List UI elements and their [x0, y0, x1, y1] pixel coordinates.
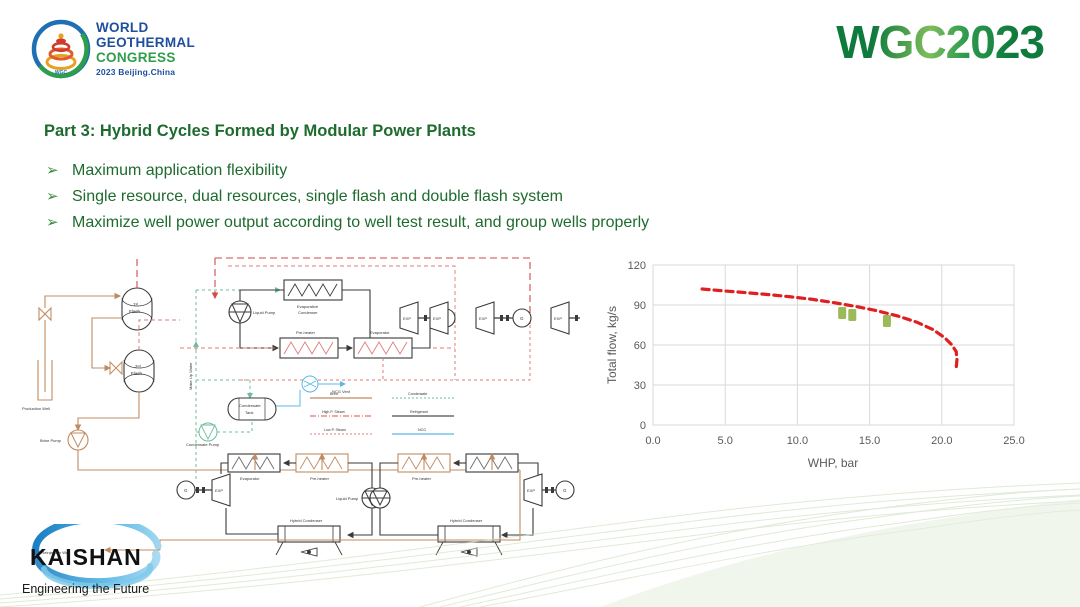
bottom-module-2: Pre-heater EXP G Hybrid Condenser — [370, 454, 574, 556]
bullet-list: ➢ Maximum application flexibility ➢ Sing… — [46, 160, 946, 238]
label-flash2b: Flash — [131, 371, 143, 376]
xtick-25: 25.0 — [1003, 435, 1024, 447]
bullet-text: Maximum application flexibility — [72, 160, 287, 182]
legend-label-ncg: NCG — [418, 428, 426, 432]
page-title: Part 3: Hybrid Cycles Formed by Modular … — [44, 122, 476, 141]
wgc-congress-logo: WGC WORLD GEOTHERMAL CONGRESS 2023 Beiji… — [30, 14, 205, 84]
wgc-emblem-badge-text: WGC — [55, 70, 68, 76]
kaishan-wordmark: KAISHAN — [30, 544, 142, 571]
label-exp-3: EXP — [479, 316, 487, 321]
label-make-up-water: Make Up Water — [188, 362, 193, 390]
label-flash1b: Flash — [129, 309, 141, 314]
wgc-emblem-icon: WGC — [30, 18, 92, 80]
well-deliverability-chart-svg: 120 90 60 30 0 0.0 5.0 10.0 15.0 20.0 25… — [596, 252, 1036, 474]
label-liquid-pump-top: Liquid Pump — [253, 310, 276, 315]
wgc-logo-line-4: 2023 Beijing.China — [96, 67, 195, 77]
label-flash2: 2ⁿᵈ — [135, 364, 141, 369]
bullet-text: Single resource, dual resources, single … — [72, 186, 563, 208]
label-pre-heater-m1: Pre-heater — [310, 476, 330, 481]
legend-label-brine: Brine — [330, 392, 338, 396]
chart-y-axis-label: Total flow, kg/s — [605, 306, 619, 384]
label-hybrid-condenser-m1: Hybrid Condenser — [290, 518, 323, 523]
label-hybrid-condenser-m2: Hybrid Condenser — [450, 518, 483, 523]
chart-x-axis-label: WHP, bar — [808, 456, 858, 470]
ytick-60: 60 — [634, 340, 646, 352]
label-flash1: 1ˢᵗ — [133, 302, 138, 307]
chart-marker — [883, 315, 891, 327]
label-exp-1: EXP — [403, 316, 411, 321]
list-item: ➢ Maximize well power output according t… — [46, 212, 946, 234]
kaishan-tagline: Engineering the Future — [22, 582, 149, 596]
label-exp-4: EXP — [554, 316, 562, 321]
wgc-logo-line-2: GEOTHERMAL — [96, 35, 195, 50]
bullet-text: Maximize well power output according to … — [72, 212, 649, 234]
label-production-well: Production Well — [22, 406, 50, 411]
diagram-legend: Brine High P. Steam Low P. Steam Condens… — [310, 392, 454, 434]
chart-marker — [848, 309, 856, 321]
legend-label-refrigerant: Refrigerant — [410, 410, 428, 414]
ytick-30: 30 — [634, 380, 646, 392]
label-condensate-tank-1: Condensate — [239, 403, 261, 408]
wgc-logo-text: WORLD GEOTHERMAL CONGRESS 2023 Beijing.C… — [96, 20, 195, 77]
ytick-120: 120 — [628, 260, 646, 272]
arrow-bullet-icon: ➢ — [46, 212, 72, 234]
label-condensate-pump: Condensate Pump — [186, 442, 220, 447]
list-item: ➢ Maximum application flexibility — [46, 160, 946, 182]
wgc2023-brand-title: WGC2023 — [836, 16, 1044, 68]
label-exp-m1: EXP — [215, 488, 223, 493]
well-deliverability-chart: 120 90 60 30 0 0.0 5.0 10.0 15.0 20.0 25… — [596, 252, 1036, 474]
arrow-bullet-icon: ➢ — [46, 160, 72, 182]
label-pre-heater-top: Pre-heater — [296, 330, 316, 335]
label-brine-pump: Brine Pump — [40, 438, 62, 443]
label-evaporator-top: Evaporator — [370, 330, 390, 335]
wgc-logo-line-3: CONGRESS — [96, 50, 195, 65]
label-exp-m2: EXP — [527, 488, 535, 493]
label-evaporative-condenser-1: Evaporative — [297, 304, 319, 309]
arrow-bullet-icon: ➢ — [46, 186, 72, 208]
legend-label-high-p-steam: High P. Steam — [322, 410, 345, 414]
label-evaporator-m1: Evaporator — [240, 476, 260, 481]
label-generator-m2: G — [563, 488, 567, 493]
xtick-20: 20.0 — [931, 435, 952, 447]
ytick-0: 0 — [640, 420, 646, 432]
label-evaporative-condenser-2: Condenser — [298, 310, 318, 315]
process-flow-diagram-svg: Production Well 1ˢᵗ Flash 2ⁿᵈ Flash Brin… — [0, 250, 580, 560]
label-pre-heater-m2: Pre-heater — [412, 476, 432, 481]
label-generator-m1: G — [184, 488, 188, 493]
label-liquid-pump-m1: Liquid Pump — [336, 496, 359, 501]
bottom-module-1: Evaporator Pre-heater Liquid Pump Hybrid… — [177, 454, 382, 556]
chart-marker — [838, 307, 846, 319]
xtick-10: 10.0 — [787, 435, 808, 447]
legend-label-low-p-steam: Low P. Steam — [324, 428, 346, 432]
ytick-90: 90 — [634, 300, 646, 312]
list-item: ➢ Single resource, dual resources, singl… — [46, 186, 946, 208]
wgc-logo-line-1: WORLD — [96, 20, 195, 35]
xtick-5: 5.0 — [718, 435, 733, 447]
label-exp-2: EXP — [433, 316, 441, 321]
xtick-15: 15.0 — [859, 435, 880, 447]
label-condensate-tank-2: Tank — [245, 410, 253, 415]
label-generator-3: G — [520, 316, 524, 321]
kaishan-logo: KAISHAN Engineering the Future — [18, 524, 178, 596]
process-flow-diagram: Production Well 1ˢᵗ Flash 2ⁿᵈ Flash Brin… — [0, 250, 580, 560]
xtick-0: 0.0 — [645, 435, 660, 447]
legend-label-condensate: Condensate — [408, 392, 427, 396]
